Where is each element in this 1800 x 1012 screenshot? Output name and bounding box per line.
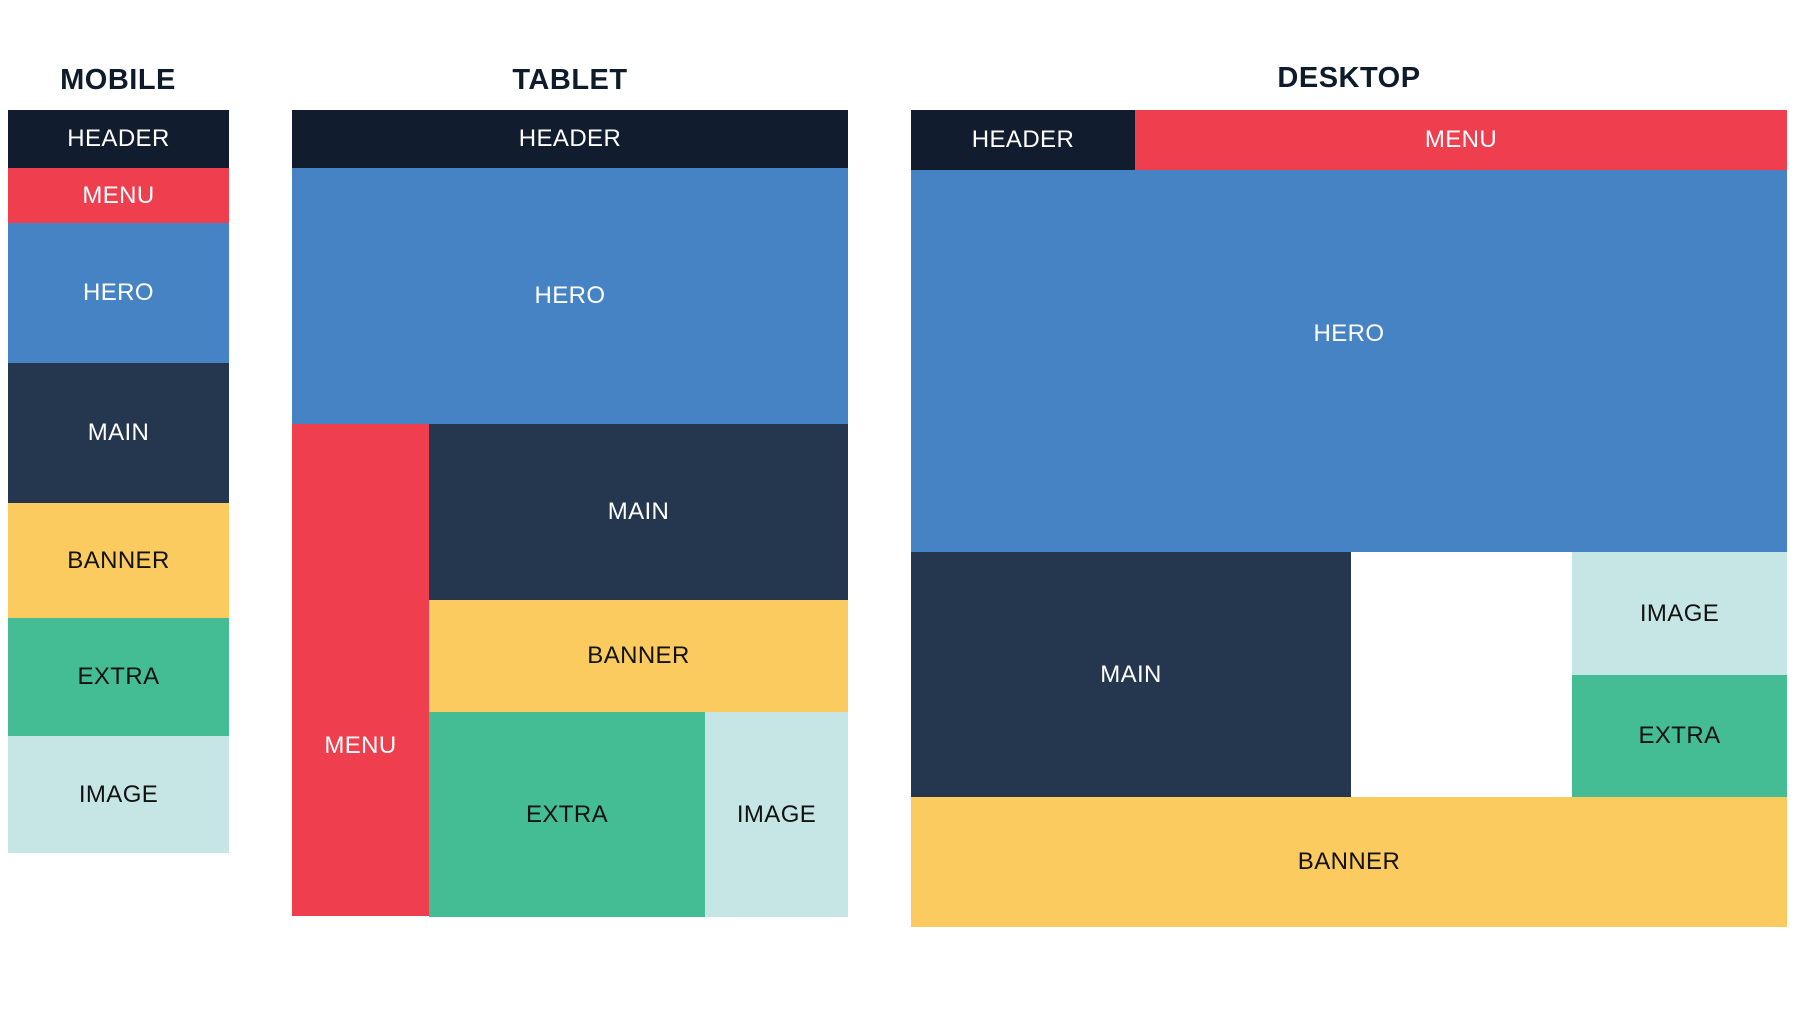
tablet-block-menu: MENU (292, 424, 429, 916)
mobile-block-image: IMAGE (8, 736, 229, 853)
mobile-banner-label: BANNER (67, 549, 169, 573)
mobile-block-main: MAIN (8, 363, 229, 503)
tablet-block-image: IMAGE (705, 712, 848, 917)
desktop-block-empty (1351, 552, 1572, 797)
tablet-block-banner: BANNER (429, 600, 848, 712)
desktop-block-banner: BANNER (911, 797, 1787, 927)
column-title-tablet: TABLET (292, 64, 848, 97)
mobile-main-label: MAIN (88, 421, 150, 445)
column-title-mobile: MOBILE (8, 64, 228, 97)
desktop-block-menu: MENU (1135, 110, 1787, 170)
desktop-block-hero: HERO (911, 170, 1787, 552)
mobile-block-header: HEADER (8, 110, 229, 168)
mobile-image-label: IMAGE (79, 783, 158, 807)
mobile-menu-label: MENU (82, 184, 154, 208)
tablet-extra-label: EXTRA (526, 803, 608, 827)
mobile-block-menu: MENU (8, 168, 229, 223)
desktop-block-extra: EXTRA (1572, 675, 1787, 797)
mobile-block-hero: HERO (8, 223, 229, 363)
desktop-block-main: MAIN (911, 552, 1351, 797)
desktop-banner-label: BANNER (1298, 850, 1400, 874)
tablet-menu-label: MENU (324, 734, 396, 758)
tablet-block-header: HEADER (292, 110, 848, 168)
mobile-block-extra: EXTRA (8, 618, 229, 736)
desktop-block-image: IMAGE (1572, 552, 1787, 675)
mobile-extra-label: EXTRA (77, 665, 159, 689)
desktop-block-header: HEADER (911, 110, 1135, 170)
desktop-extra-label: EXTRA (1638, 724, 1720, 748)
tablet-block-hero: HERO (292, 168, 848, 424)
mobile-hero-label: HERO (83, 281, 154, 305)
tablet-block-main: MAIN (429, 424, 848, 600)
desktop-header-label: HEADER (972, 128, 1074, 152)
tablet-banner-label: BANNER (587, 644, 689, 668)
desktop-menu-label: MENU (1425, 128, 1497, 152)
desktop-image-label: IMAGE (1640, 602, 1719, 626)
desktop-main-label: MAIN (1100, 663, 1162, 687)
tablet-main-label: MAIN (608, 500, 670, 524)
tablet-header-label: HEADER (519, 127, 621, 151)
desktop-hero-label: HERO (1314, 322, 1385, 346)
mobile-header-label: HEADER (67, 127, 169, 151)
mobile-block-banner: BANNER (8, 503, 229, 618)
tablet-hero-label: HERO (535, 284, 606, 308)
column-title-desktop: DESKTOP (911, 62, 1787, 95)
tablet-block-extra: EXTRA (429, 712, 705, 917)
tablet-image-label: IMAGE (737, 803, 816, 827)
wireframe-stage: MOBILE TABLET DESKTOP HEADER MENU HERO M… (0, 0, 1800, 1012)
